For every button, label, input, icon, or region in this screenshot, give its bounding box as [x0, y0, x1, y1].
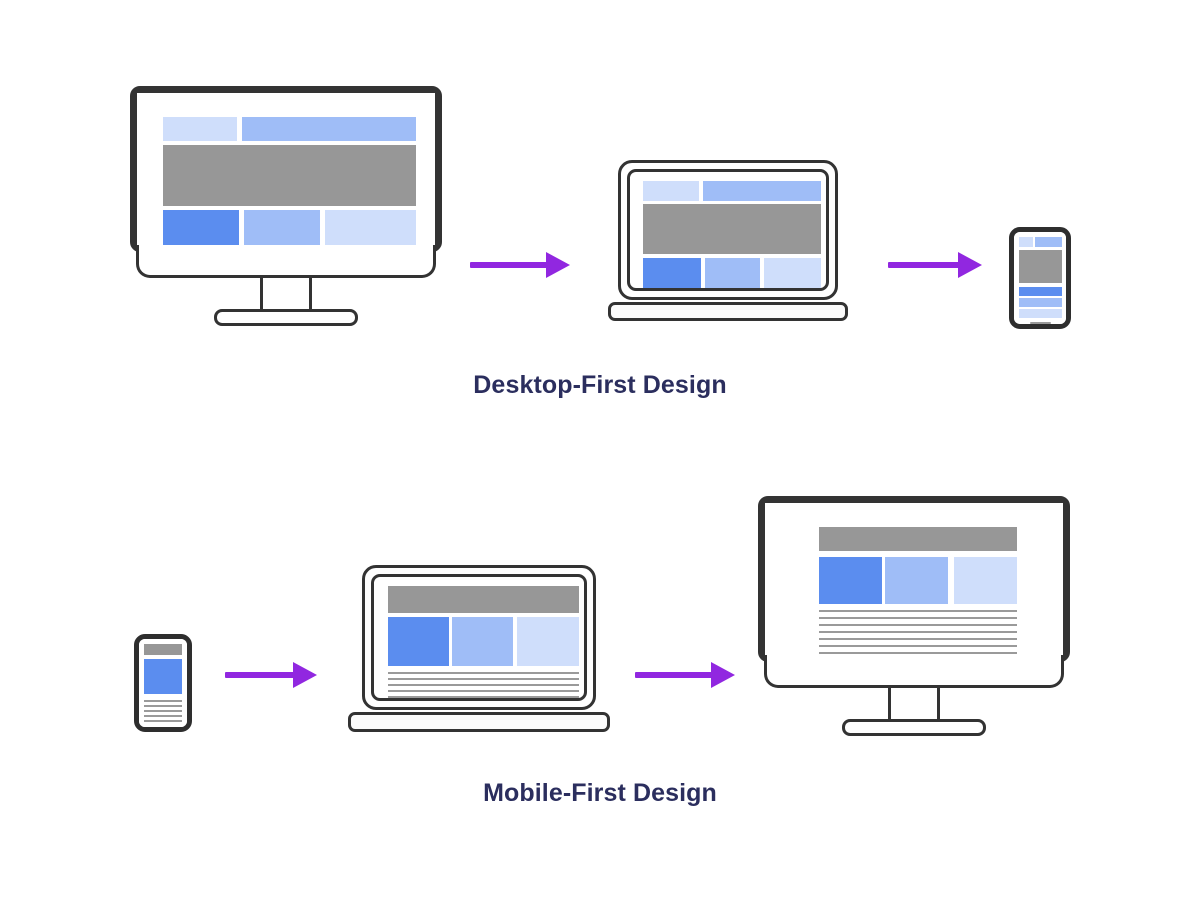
text-line: [819, 631, 1017, 633]
arrow-shaft: [225, 672, 295, 678]
phone-body: [1009, 227, 1071, 329]
mobile-first-phone: [134, 634, 192, 732]
laptop-screen-content: [627, 169, 829, 291]
arrow-head-icon: [958, 252, 982, 278]
desktop-first-laptop: [608, 160, 848, 330]
desktop-first-phone: [1009, 227, 1071, 329]
monitor-base: [842, 719, 986, 736]
card-secondary: [452, 617, 513, 666]
caption-mobile-first: Mobile-First Design: [0, 779, 1200, 808]
hero-block: [643, 204, 821, 254]
text-line: [388, 696, 579, 698]
text-line: [819, 624, 1017, 626]
laptop-base: [348, 712, 610, 732]
text-line: [144, 705, 182, 707]
arrow-laptop-to-phone: [888, 250, 988, 280]
stacked-bar-primary: [1019, 287, 1062, 296]
hero-block: [1019, 250, 1062, 283]
monitor-screen-bezel: [758, 496, 1070, 662]
text-line: [388, 684, 579, 686]
text-line: [144, 700, 182, 702]
phone-body: [134, 634, 192, 732]
text-line: [388, 672, 579, 674]
stacked-bar-secondary: [1019, 298, 1062, 307]
card-tertiary: [764, 258, 821, 290]
text-line: [819, 652, 1017, 654]
text-line: [144, 710, 182, 712]
mobile-first-monitor: [758, 496, 1070, 741]
card-primary: [819, 557, 882, 604]
laptop-screen-content: [371, 574, 587, 701]
text-line: [388, 678, 579, 680]
card-secondary: [885, 557, 948, 604]
text-line: [819, 645, 1017, 647]
text-line: [388, 690, 579, 692]
card-tertiary: [954, 557, 1017, 604]
card-tertiary: [325, 210, 416, 245]
phone-home-indicator: [1030, 322, 1051, 324]
arrow-laptop-to-monitor: [635, 660, 735, 690]
monitor-base: [214, 309, 358, 326]
header-block-left: [163, 117, 237, 141]
laptop-base: [608, 302, 848, 321]
text-line: [144, 715, 182, 717]
diagram-canvas: Desktop-First Design: [0, 0, 1200, 903]
monitor-screen-content: [137, 93, 435, 245]
laptop-lid: [618, 160, 838, 300]
arrow-head-icon: [293, 662, 317, 688]
header-block-right: [242, 117, 416, 141]
card-primary: [643, 258, 701, 290]
nav-bar: [388, 586, 579, 613]
card-tertiary: [517, 617, 579, 666]
arrow-head-icon: [546, 252, 570, 278]
text-line: [144, 720, 182, 722]
arrow-phone-to-laptop: [225, 660, 325, 690]
header-block-right: [703, 181, 821, 201]
caption-desktop-first: Desktop-First Design: [0, 371, 1200, 400]
monitor-screen-content: [765, 503, 1063, 655]
nav-bar: [819, 527, 1017, 551]
arrow-head-icon: [711, 662, 735, 688]
monitor-chin: [764, 655, 1064, 688]
card-secondary: [244, 210, 320, 245]
card-primary: [388, 617, 449, 666]
phone-screen-content: [139, 639, 187, 727]
card-secondary: [705, 258, 760, 290]
stacked-bar-tertiary: [1019, 309, 1062, 318]
mobile-first-laptop: [348, 565, 610, 740]
text-line: [819, 617, 1017, 619]
monitor-neck: [260, 278, 312, 312]
header-block-left: [643, 181, 699, 201]
monitor-neck: [888, 688, 940, 722]
card-primary: [163, 210, 239, 245]
arrow-shaft: [470, 262, 548, 268]
arrow-monitor-to-laptop: [470, 250, 570, 280]
arrow-shaft: [888, 262, 960, 268]
monitor-screen-bezel: [130, 86, 442, 252]
header-block-right: [1035, 237, 1062, 247]
desktop-monitor-large: [130, 86, 442, 331]
header-block-left: [1019, 237, 1033, 247]
arrow-shaft: [635, 672, 713, 678]
monitor-chin: [136, 245, 436, 278]
text-line: [819, 610, 1017, 612]
text-line: [819, 638, 1017, 640]
phone-screen-content: [1014, 232, 1066, 324]
hero-card: [144, 659, 182, 694]
laptop-lid: [362, 565, 596, 710]
hero-block: [163, 145, 416, 206]
nav-bar: [144, 644, 182, 655]
